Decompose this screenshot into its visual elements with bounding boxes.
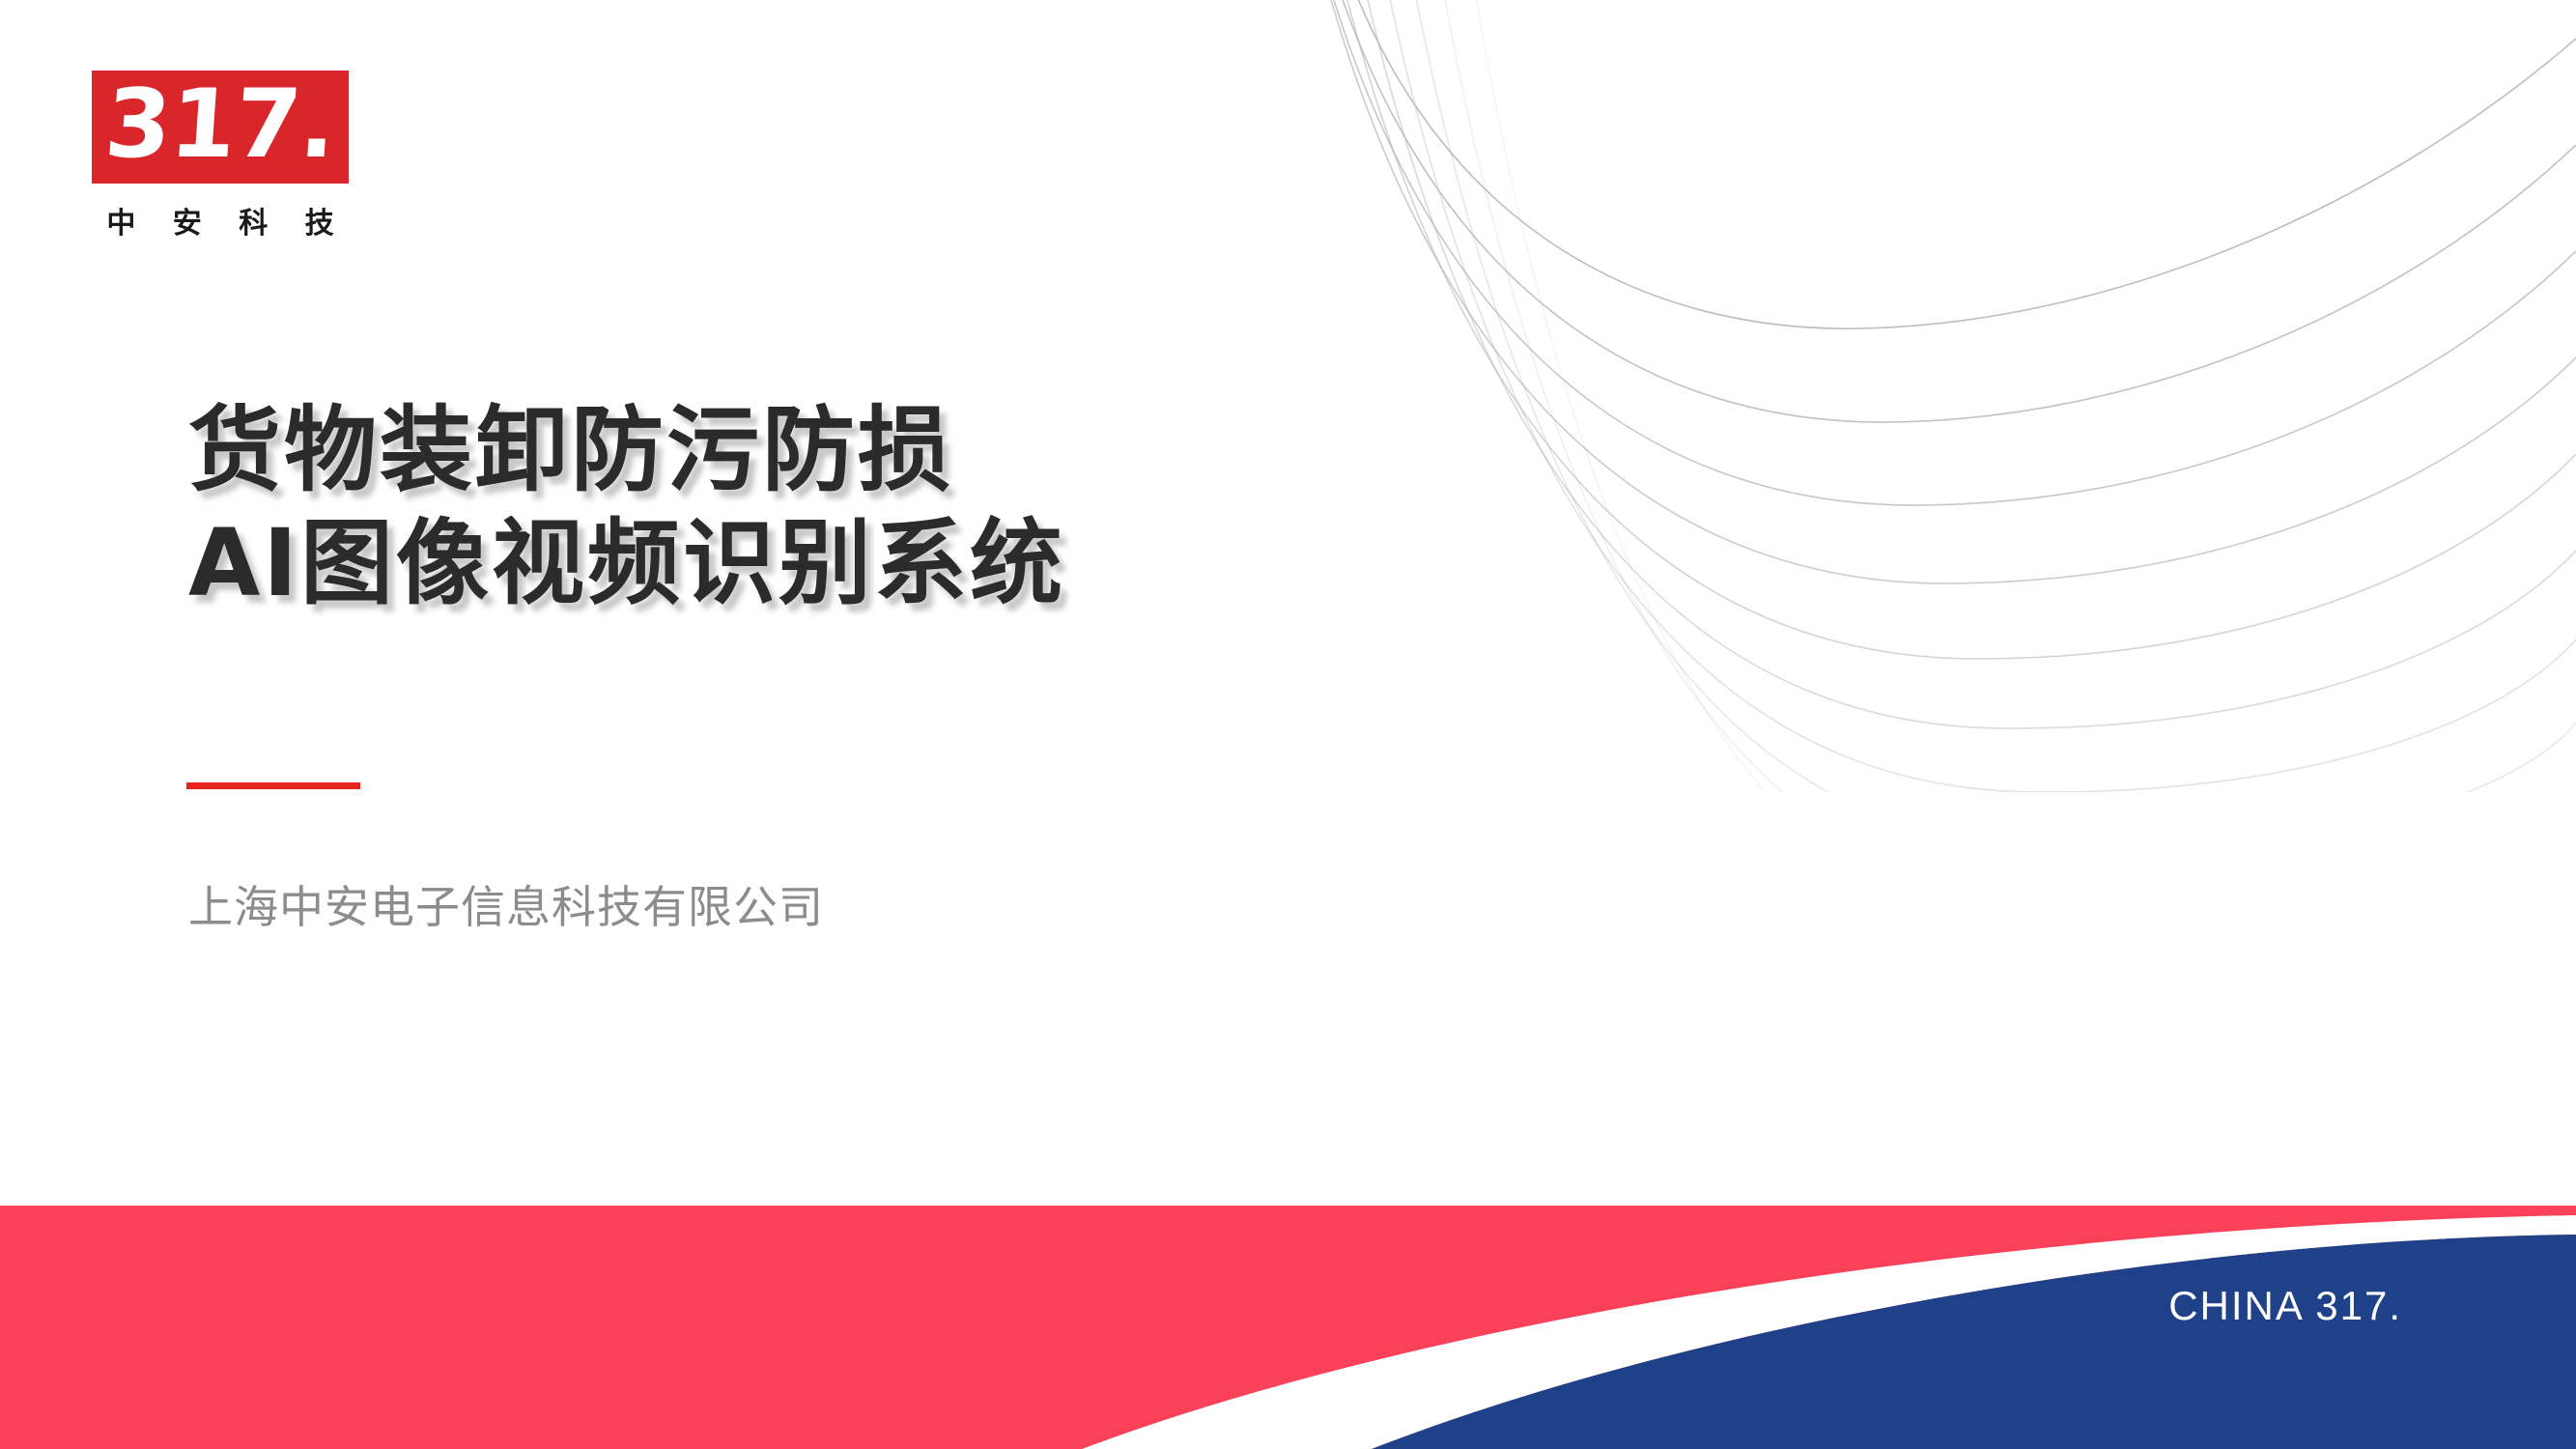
company-name-subtitle: 上海中安电子信息科技有限公司 — [188, 872, 824, 936]
title-divider-rule — [186, 782, 360, 789]
company-logo: 317. 中 安 科 技 — [92, 71, 353, 241]
logo-mark-317: 317. — [92, 71, 349, 184]
logo-mark-text: 317. — [102, 77, 339, 172]
bottom-banner: CHINA 317. — [0, 1206, 2576, 1449]
slide-canvas: 317. 中 安 科 技 货物装卸防污防损 AI图像视频识别系统 上海中安电子信… — [0, 0, 2576, 1449]
logo-subtitle-text: 中 安 科 技 — [92, 199, 349, 241]
title-line-1: 货物装卸防污防损 — [188, 394, 1541, 507]
banner-brand-text: CHINA 317. — [2168, 1283, 2402, 1329]
title-line-2: AI图像视频识别系统 — [188, 507, 1541, 620]
page-title: 货物装卸防污防损 AI图像视频识别系统 — [188, 394, 1541, 620]
